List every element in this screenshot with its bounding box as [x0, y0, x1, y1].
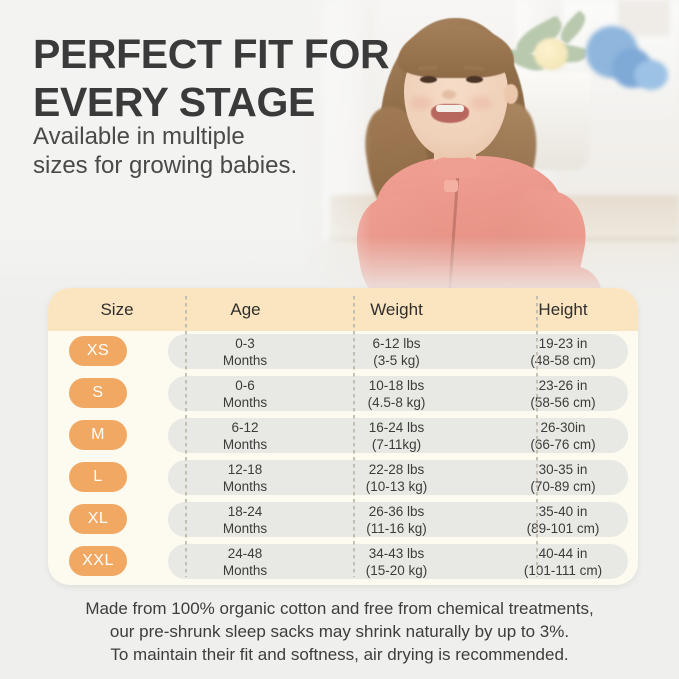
page-subtitle: Available in multiple sizes for growing … [33, 122, 363, 180]
height-primary: 40-44 in [539, 545, 588, 562]
table-row: XS 0-3 Months 6-12 lbs (3-5 kg) 19-23 in… [48, 331, 638, 372]
table-row: M 6-12 Months 16-24 lbs (7-11kg) 26-30in… [48, 415, 638, 456]
cell-age: 24-48 Months [185, 544, 305, 579]
weight-primary: 10-18 lbs [369, 377, 425, 394]
cell-weight: 22-28 lbs (10-13 kg) [305, 460, 488, 495]
cell-age: 12-18 Months [185, 460, 305, 495]
headline-line-1: PERFECT FIT FOR [33, 30, 393, 78]
weight-primary: 6-12 lbs [372, 335, 420, 352]
age-primary: 24-48 [228, 545, 263, 562]
size-badge: XL [69, 504, 127, 534]
cell-age: 6-12 Months [185, 418, 305, 453]
column-divider [353, 296, 355, 577]
column-header-height: Height [488, 288, 638, 331]
weight-secondary: (11-16 kg) [366, 520, 427, 537]
age-secondary: Months [223, 478, 267, 495]
table-row: XL 18-24 Months 26-36 lbs (11-16 kg) 35-… [48, 499, 638, 540]
weight-secondary: (3-5 kg) [373, 352, 420, 369]
height-primary: 19-23 in [539, 335, 588, 352]
size-badge: XS [69, 336, 127, 366]
size-badge: S [69, 378, 127, 408]
height-secondary: (70-89 cm) [530, 478, 595, 495]
table-row: XXL 24-48 Months 34-43 lbs (15-20 kg) 40… [48, 541, 638, 582]
subheadline-line-2: sizes for growing babies. [33, 151, 363, 180]
table-row: S 0-6 Months 10-18 lbs (4.5-8 kg) 23-26 … [48, 373, 638, 414]
footer-line-3: To maintain their fit and softness, air … [0, 643, 679, 666]
height-secondary: (48-58 cm) [530, 352, 595, 369]
age-primary: 12-18 [228, 461, 263, 478]
weight-secondary: (7-11kg) [372, 436, 421, 453]
age-primary: 0-6 [235, 377, 255, 394]
age-secondary: Months [223, 352, 267, 369]
weight-secondary: (4.5-8 kg) [368, 394, 426, 411]
footer-line-1: Made from 100% organic cotton and free f… [0, 597, 679, 620]
cell-weight: 34-43 lbs (15-20 kg) [305, 544, 488, 579]
height-primary: 30-35 in [539, 461, 588, 478]
cell-age: 0-3 Months [185, 334, 305, 369]
cell-height: 19-23 in (48-58 cm) [488, 334, 638, 369]
weight-primary: 34-43 lbs [369, 545, 425, 562]
cell-height: 35-40 in (89-101 cm) [488, 502, 638, 537]
weight-primary: 22-28 lbs [369, 461, 425, 478]
cell-weight: 6-12 lbs (3-5 kg) [305, 334, 488, 369]
cell-height: 30-35 in (70-89 cm) [488, 460, 638, 495]
age-secondary: Months [223, 436, 267, 453]
height-secondary: (58-56 cm) [530, 394, 595, 411]
weight-primary: 16-24 lbs [369, 419, 425, 436]
height-primary: 26-30in [540, 419, 585, 436]
cell-height: 23-26 in (58-56 cm) [488, 376, 638, 411]
headline-line-2: EVERY STAGE [33, 78, 393, 126]
cell-age: 18-24 Months [185, 502, 305, 537]
column-header-weight: Weight [305, 288, 488, 331]
weight-secondary: (15-20 kg) [366, 562, 428, 579]
page-title: PERFECT FIT FOR EVERY STAGE [33, 30, 393, 126]
subheadline-line-1: Available in multiple [33, 122, 363, 151]
size-badge: XXL [69, 546, 127, 576]
cell-height: 40-44 in (101-111 cm) [488, 544, 638, 579]
cell-weight: 16-24 lbs (7-11kg) [305, 418, 488, 453]
size-chart-rows: XS 0-3 Months 6-12 lbs (3-5 kg) 19-23 in… [48, 331, 638, 583]
size-badge: L [69, 462, 127, 492]
column-divider [536, 296, 538, 577]
cell-height: 26-30in (66-76 cm) [488, 418, 638, 453]
age-primary: 18-24 [228, 503, 263, 520]
table-row: L 12-18 Months 22-28 lbs (10-13 kg) 30-3… [48, 457, 638, 498]
age-secondary: Months [223, 520, 267, 537]
age-secondary: Months [223, 394, 267, 411]
size-badge: M [69, 420, 127, 450]
height-secondary: (66-76 cm) [530, 436, 595, 453]
height-primary: 35-40 in [539, 503, 588, 520]
weight-secondary: (10-13 kg) [366, 478, 428, 495]
age-primary: 0-3 [235, 335, 255, 352]
age-secondary: Months [223, 562, 267, 579]
size-chart-card: Size Age Weight Height XS 0-3 Months 6-1… [48, 288, 638, 585]
cell-weight: 26-36 lbs (11-16 kg) [305, 502, 488, 537]
age-primary: 6-12 [231, 419, 258, 436]
column-divider [185, 296, 187, 577]
column-header-age: Age [186, 288, 305, 331]
care-instructions: Made from 100% organic cotton and free f… [0, 597, 679, 666]
column-header-size: Size [48, 288, 186, 331]
cell-weight: 10-18 lbs (4.5-8 kg) [305, 376, 488, 411]
footer-line-2: our pre-shrunk sleep sacks may shrink na… [0, 620, 679, 643]
size-chart-header-row: Size Age Weight Height [48, 288, 638, 331]
cell-age: 0-6 Months [185, 376, 305, 411]
height-primary: 23-26 in [539, 377, 588, 394]
weight-primary: 26-36 lbs [369, 503, 425, 520]
infographic-canvas: PERFECT FIT FOR EVERY STAGE Available in… [0, 0, 679, 679]
